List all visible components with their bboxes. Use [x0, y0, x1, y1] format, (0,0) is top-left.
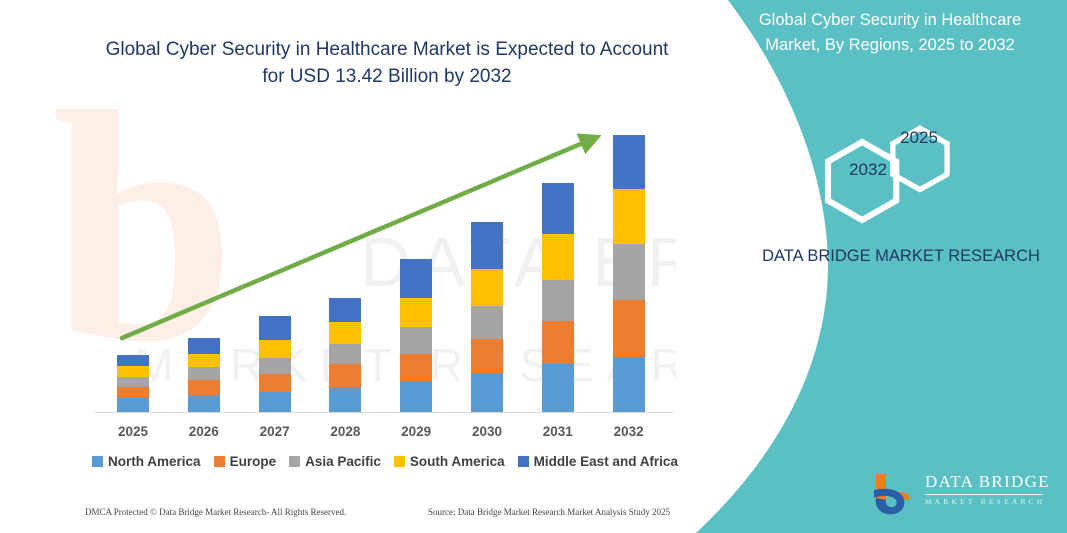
legend-swatch-icon	[289, 456, 300, 467]
x-axis-label-2025: 2025	[98, 424, 168, 439]
brand-logo-name: DATA BRIDGE	[925, 472, 1050, 492]
legend-item-me[interactable]: Middle East and Africa	[518, 454, 678, 469]
brand-logo-mark-icon	[870, 470, 922, 516]
bar-segment-ap[interactable]	[329, 344, 361, 364]
bar-segment-me[interactable]	[400, 259, 432, 298]
bar-segment-eu[interactable]	[329, 364, 361, 386]
bar-2028[interactable]	[329, 298, 361, 412]
bar-segment-na[interactable]	[613, 357, 645, 412]
bar-segment-sa[interactable]	[613, 189, 645, 243]
bar-segment-eu[interactable]	[471, 339, 503, 373]
legend-item-na[interactable]: North America	[92, 454, 201, 469]
bar-segment-na[interactable]	[542, 364, 574, 412]
bar-segment-sa[interactable]	[117, 366, 149, 377]
x-axis-label-2029: 2029	[381, 424, 451, 439]
bar-segment-eu[interactable]	[117, 387, 149, 399]
bar-segment-na[interactable]	[117, 398, 149, 412]
bar-segment-me[interactable]	[329, 298, 361, 321]
footer-copyright: DMCA Protected © Data Bridge Market Rese…	[85, 507, 346, 517]
bar-segment-me[interactable]	[188, 338, 220, 354]
legend-label: Europe	[230, 454, 277, 469]
bar-2029[interactable]	[400, 259, 432, 412]
legend-label: South America	[410, 454, 505, 469]
brand-logo-text: DATA BRIDGE MARKET RESEARCH	[925, 472, 1050, 506]
bar-segment-ap[interactable]	[400, 327, 432, 353]
brand-logo: DATA BRIDGE MARKET RESEARCH	[870, 470, 1045, 518]
bar-segment-na[interactable]	[259, 392, 291, 412]
legend-swatch-icon	[92, 456, 103, 467]
legend-label: Middle East and Africa	[534, 454, 678, 469]
hexagon-label-start: 2025	[891, 128, 947, 148]
bar-segment-ap[interactable]	[613, 244, 645, 300]
bar-segment-ap[interactable]	[117, 377, 149, 387]
bar-2027[interactable]	[259, 316, 291, 412]
bar-2025[interactable]	[117, 355, 149, 412]
x-axis-label-2030: 2030	[452, 424, 522, 439]
bar-segment-me[interactable]	[471, 222, 503, 270]
bar-segment-sa[interactable]	[471, 269, 503, 306]
bar-segment-na[interactable]	[188, 395, 220, 412]
infographic-slide: b DATA BRIDGE MARKET RESEARCH Global Cyb…	[0, 0, 1067, 533]
x-axis-line	[95, 412, 673, 413]
bar-segment-eu[interactable]	[259, 374, 291, 391]
legend-item-eu[interactable]: Europe	[214, 454, 277, 469]
bar-segment-eu[interactable]	[613, 300, 645, 356]
bar-2026[interactable]	[188, 338, 220, 412]
panel-title: Global Cyber Security in Healthcare Mark…	[732, 8, 1048, 58]
x-axis-label-2027: 2027	[240, 424, 310, 439]
bar-segment-sa[interactable]	[542, 234, 574, 280]
brand-logo-tagline: MARKET RESEARCH	[925, 498, 1050, 506]
legend-swatch-icon	[518, 456, 529, 467]
bar-segment-sa[interactable]	[259, 340, 291, 357]
legend-swatch-icon	[394, 456, 405, 467]
bar-2031[interactable]	[542, 183, 574, 412]
x-axis-label-2032: 2032	[594, 424, 664, 439]
legend-label: North America	[108, 454, 201, 469]
panel-subtitle: DATA BRIDGE MARKET RESEARCH	[756, 243, 1046, 270]
bar-2032[interactable]	[613, 135, 645, 412]
bar-segment-na[interactable]	[329, 387, 361, 412]
bar-2030[interactable]	[471, 222, 503, 412]
bar-segment-ap[interactable]	[542, 280, 574, 321]
bar-segment-na[interactable]	[471, 373, 503, 412]
bar-segment-sa[interactable]	[188, 354, 220, 368]
brand-logo-rule	[925, 494, 1043, 495]
legend-item-sa[interactable]: South America	[394, 454, 505, 469]
bar-segment-ap[interactable]	[259, 358, 291, 375]
chart-title: Global Cyber Security in Healthcare Mark…	[92, 36, 682, 90]
bar-segment-eu[interactable]	[188, 380, 220, 395]
legend-label: Asia Pacific	[305, 454, 381, 469]
bar-segment-eu[interactable]	[542, 321, 574, 365]
bar-segment-me[interactable]	[259, 316, 291, 340]
bar-segment-sa[interactable]	[329, 322, 361, 344]
x-axis-label-2026: 2026	[169, 424, 239, 439]
legend-item-ap[interactable]: Asia Pacific	[289, 454, 381, 469]
bar-segment-ap[interactable]	[471, 306, 503, 339]
bar-segment-me[interactable]	[613, 135, 645, 189]
bar-segment-me[interactable]	[117, 355, 149, 367]
chart-legend: North AmericaEuropeAsia PacificSouth Ame…	[95, 454, 675, 469]
x-axis-label-2031: 2031	[523, 424, 593, 439]
bar-segment-sa[interactable]	[400, 298, 432, 327]
right-panel: Global Cyber Security in Healthcare Mark…	[676, 0, 1067, 533]
legend-swatch-icon	[214, 456, 225, 467]
bar-segment-eu[interactable]	[400, 354, 432, 381]
bar-segment-me[interactable]	[542, 183, 574, 235]
footer-source: Source: Data Bridge Market Research Mark…	[428, 507, 670, 517]
hexagon-label-end: 2032	[840, 160, 896, 180]
bar-segment-ap[interactable]	[188, 367, 220, 380]
x-axis-label-2028: 2028	[310, 424, 380, 439]
bar-segment-na[interactable]	[400, 381, 432, 412]
